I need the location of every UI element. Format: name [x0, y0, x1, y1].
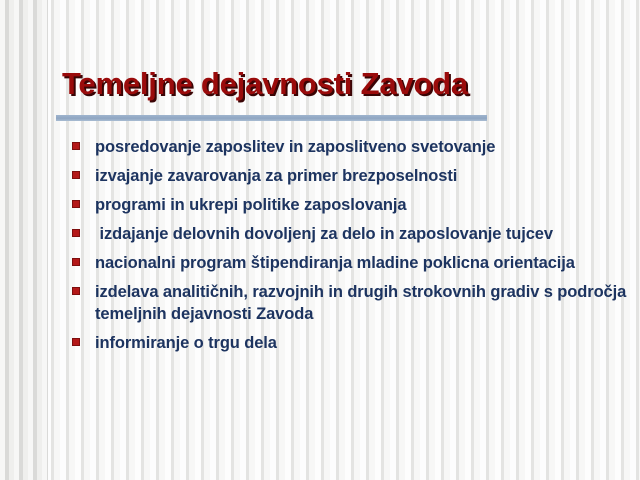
title-underline-rule — [56, 115, 487, 121]
presentation-slide: Temeljne dejavnosti Zavoda posredovanje … — [0, 0, 640, 480]
square-bullet-icon — [72, 338, 80, 346]
list-item-text: izdajanje delovnih dovoljenj za delo in … — [95, 223, 638, 245]
square-bullet-icon — [72, 258, 80, 266]
list-item-text: izdelava analitičnih, razvojnih in drugi… — [95, 281, 638, 325]
square-bullet-icon — [72, 200, 80, 208]
list-item-text: informiranje o trgu dela — [95, 332, 638, 354]
list-item: posredovanje zaposlitev in zaposlitveno … — [62, 136, 638, 158]
list-item: izdajanje delovnih dovoljenj za delo in … — [62, 223, 638, 245]
list-item: informiranje o trgu dela — [62, 332, 638, 354]
slide-title: Temeljne dejavnosti Zavoda — [62, 66, 468, 102]
list-item-text: nacionalni program štipendiranja mladine… — [95, 252, 638, 274]
list-item: izdelava analitičnih, razvojnih in drugi… — [62, 281, 638, 325]
list-item-text: izvajanje zavarovanja za primer brezpose… — [95, 165, 638, 187]
square-bullet-icon — [72, 229, 80, 237]
list-item: nacionalni program štipendiranja mladine… — [62, 252, 638, 274]
square-bullet-icon — [72, 142, 80, 150]
square-bullet-icon — [72, 171, 80, 179]
list-item-text: programi in ukrepi politike zaposlovanja — [95, 194, 638, 216]
slide-content: Temeljne dejavnosti Zavoda posredovanje … — [0, 0, 640, 480]
bullet-list: posredovanje zaposlitev in zaposlitveno … — [62, 136, 638, 361]
list-item-text: posredovanje zaposlitev in zaposlitveno … — [95, 136, 638, 158]
list-item: izvajanje zavarovanja za primer brezpose… — [62, 165, 638, 187]
list-item: programi in ukrepi politike zaposlovanja — [62, 194, 638, 216]
square-bullet-icon — [72, 287, 80, 295]
